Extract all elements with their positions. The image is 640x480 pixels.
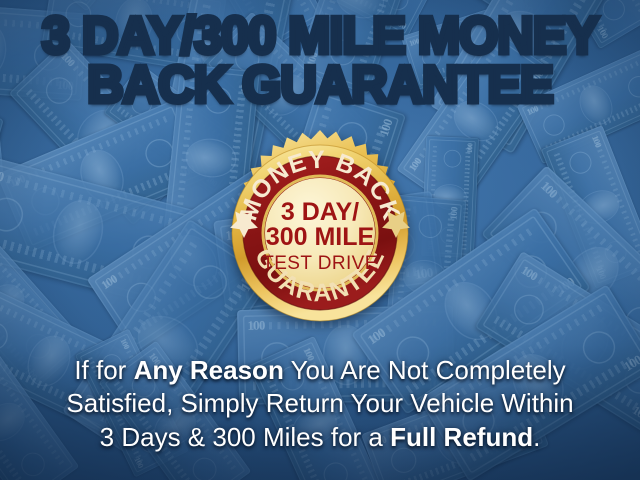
subcopy-line-3-emphasis: Full Refund [390,422,533,452]
seal-center-line-3: TEST DRIVE [262,253,378,274]
subcopy-line-1-c: You Are Not Completely [284,355,566,385]
headline-line-2-wrap: BACK GUARANTEE BACK GUARANTEE [0,61,640,110]
subcopy-line-3-c: . [533,422,540,452]
headline-line-2: BACK GUARANTEE [10,61,631,110]
subcopy-line-3-a: 3 Days & 300 Miles for a [100,422,390,452]
subcopy-block: If for Any Reason You Are Not Completely… [0,354,640,454]
headline-line-1: 3 DAY/300 MILE MONEY [10,12,631,61]
headline-block: 3 DAY/300 MILE MONEY 3 DAY/300 MILE MONE… [0,12,640,110]
money-back-guarantee-seal: MONEY BACK GUARANTEE 3 DAY/ 300 MILE TES… [217,120,423,346]
subcopy-line-3: 3 Days & 300 Miles for a Full Refund. [0,421,640,454]
promo-banner: 1001001001001001001001001001001001001001… [0,0,640,480]
headline-line-1-wrap: 3 DAY/300 MILE MONEY 3 DAY/300 MILE MONE… [0,12,640,61]
subcopy-line-1-emphasis: Any Reason [134,355,284,385]
seal-center-line-1: 3 DAY/ [281,198,359,226]
subcopy-line-2: Satisfied, Simply Return Your Vehicle Wi… [0,387,640,420]
subcopy-line-1: If for Any Reason You Are Not Completely [0,354,640,387]
seal-center-line-2: 300 MILE [266,223,374,251]
subcopy-line-1-a: If for [74,355,133,385]
